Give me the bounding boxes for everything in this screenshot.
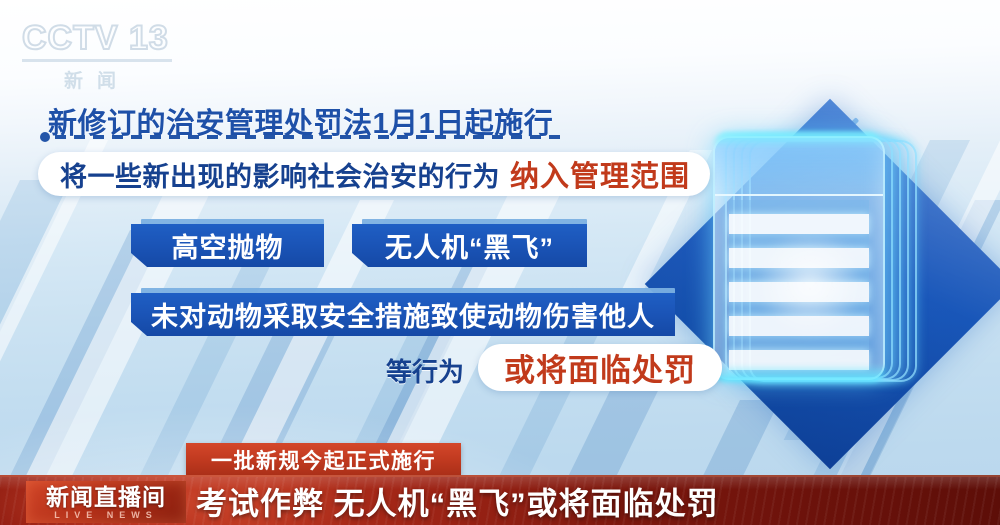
penalty-lead-label: 等行为 bbox=[386, 352, 464, 389]
program-name-en: LIVE NEWS bbox=[54, 510, 158, 520]
headline-dashed-rule bbox=[40, 131, 560, 143]
scope-statement-pill: 将一些新出现的影响社会治安的行为 纳入管理范围 bbox=[38, 152, 710, 196]
broadcast-screen: CCTV 13 新闻 新修订的治安管理处罚法1月1日起施行 将一些新出现的影响社… bbox=[0, 0, 1000, 525]
document-diamond-graphic bbox=[653, 98, 1000, 470]
cctv-logo-sub: 新闻 bbox=[22, 59, 172, 93]
program-brand-block: 新闻直播间 LIVE NEWS bbox=[26, 481, 186, 523]
cctv13-channel-logo: CCTV 13 新闻 bbox=[22, 20, 192, 82]
violation-item-2: 未对动物采取安全措施致使动物伤害他人 bbox=[131, 293, 675, 336]
cctv-logo-main: CCTV 13 bbox=[22, 20, 192, 56]
violation-item-1-label: 无人机“黑飞” bbox=[385, 226, 554, 265]
violation-item-2-label: 未对动物采取安全措施致使动物伤害他人 bbox=[151, 295, 655, 334]
scope-statement-emphasis: 纳入管理范围 bbox=[510, 153, 690, 195]
ticker-headline: 考试作弊 无人机“黑飞”或将面临处罚 bbox=[196, 479, 719, 524]
violation-item-1: 无人机“黑飞” bbox=[352, 224, 587, 267]
penalty-emphasis-pill: 或将面临处罚 bbox=[478, 344, 722, 391]
penalty-emphasis-label: 或将面临处罚 bbox=[504, 345, 696, 390]
program-name-cn: 新闻直播间 bbox=[46, 485, 166, 509]
lower-third-news-bar: 新闻直播间 LIVE NEWS 考试作弊 无人机“黑飞”或将面临处罚 bbox=[0, 475, 1000, 525]
violation-item-0: 高空抛物 bbox=[131, 224, 324, 267]
bullet-dot-icon bbox=[40, 132, 50, 142]
scope-statement-lead: 将一些新出现的影响社会治安的行为 bbox=[60, 155, 500, 194]
topic-tag-label: 一批新规今起正式施行 bbox=[211, 445, 436, 475]
dashed-line bbox=[55, 135, 560, 139]
violation-item-0-label: 高空抛物 bbox=[172, 226, 284, 265]
document-stack-icon bbox=[705, 126, 955, 416]
topic-tag-banner: 一批新规今起正式施行 bbox=[186, 443, 461, 476]
